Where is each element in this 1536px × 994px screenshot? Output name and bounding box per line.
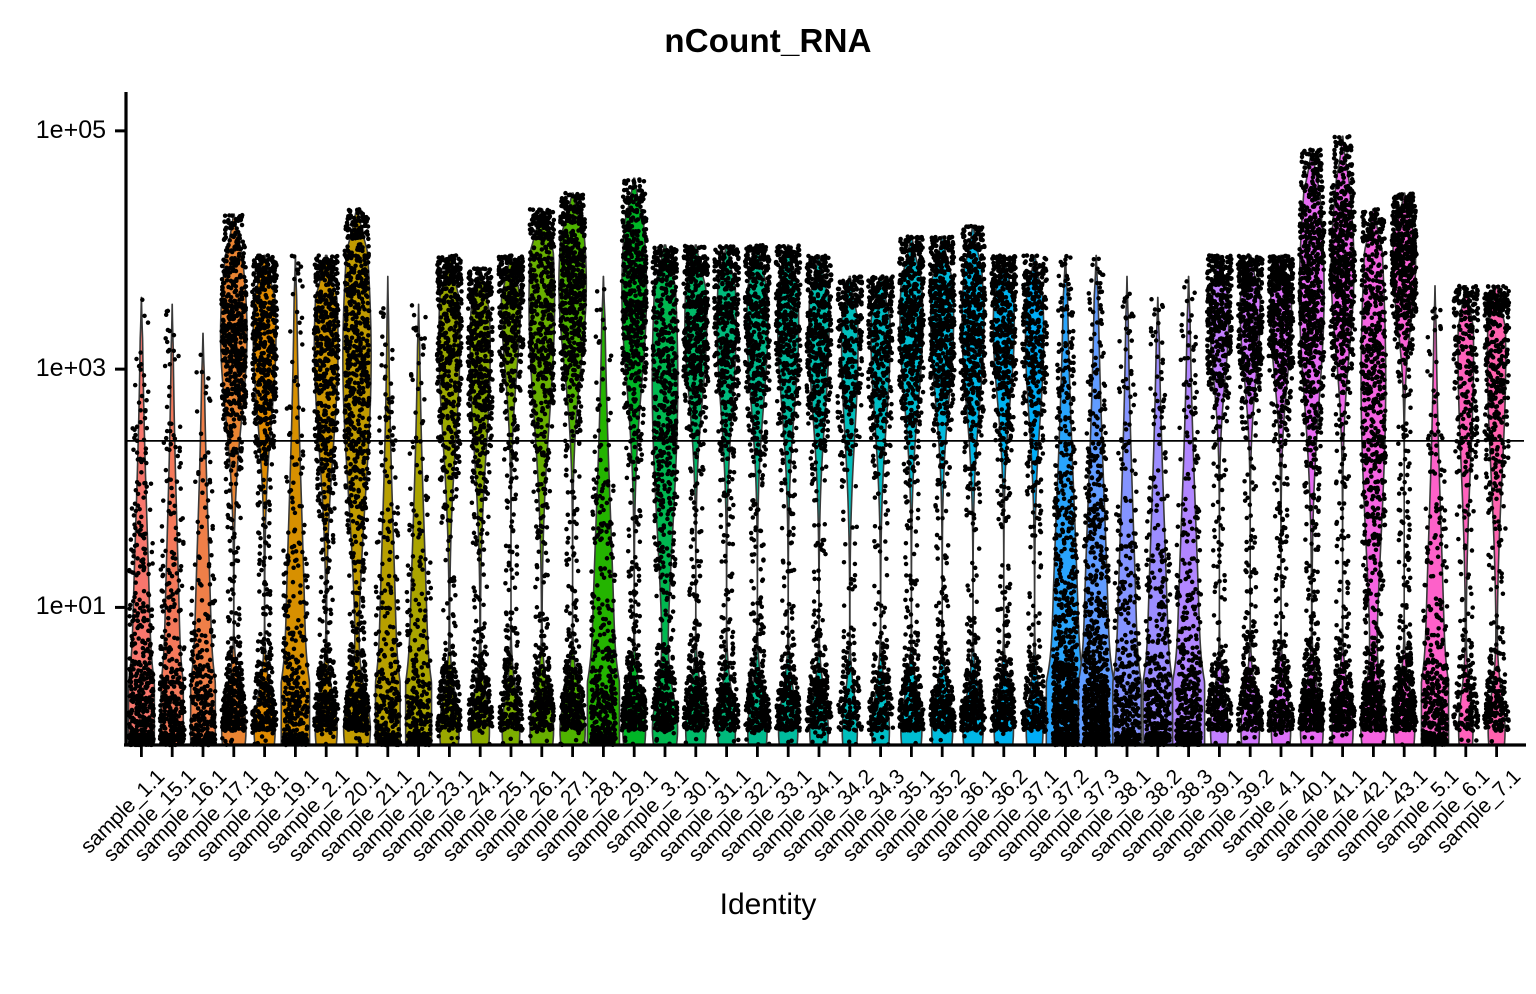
jitter-points xyxy=(435,253,464,746)
y-axis-tick-label: 1e+05 xyxy=(0,116,106,145)
plot-canvas xyxy=(0,0,1536,960)
y-axis-tick-label: 1e+01 xyxy=(0,592,106,621)
jitter-points xyxy=(620,177,649,746)
jitter-points xyxy=(1297,148,1326,741)
y-axis-tick-label: 1e+03 xyxy=(0,354,106,383)
x-axis-title: Identity xyxy=(0,888,1536,922)
violin-plot-figure: nCount_RNA 1e+011e+031e+05 sample_1.1sam… xyxy=(0,0,1536,960)
